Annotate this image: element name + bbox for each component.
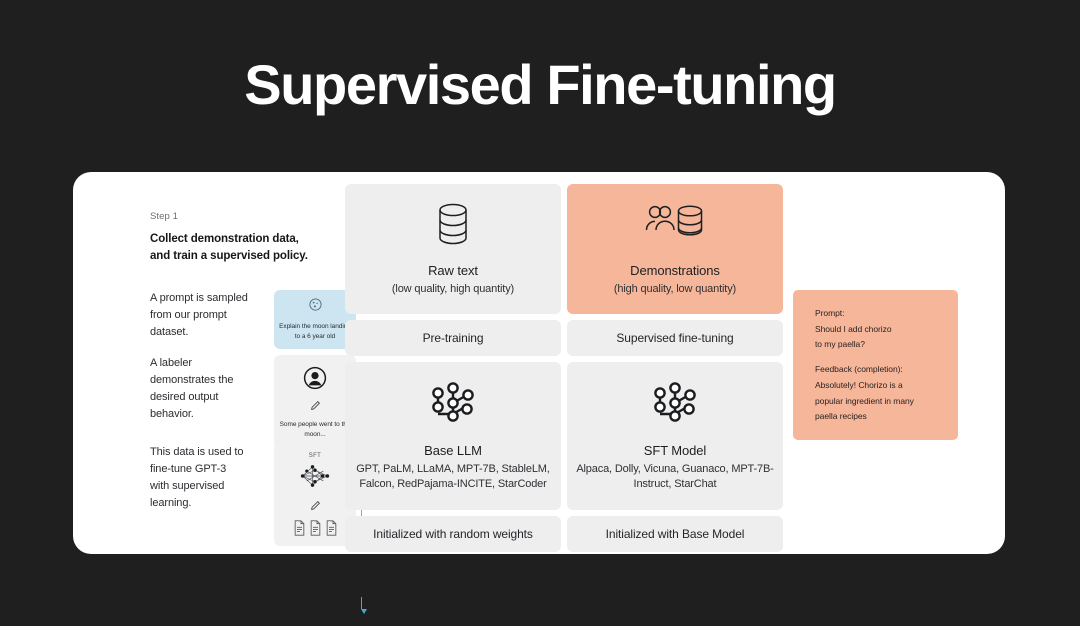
flow-step-2-text: A labeler demonstrates the desired outpu… [150, 355, 248, 423]
panel-sft-model[interactable]: SFT Model Alpaca, Dolly, Vicuna, Guanaco… [567, 362, 783, 510]
init-random-weights[interactable]: Initialized with random weights [345, 516, 561, 552]
prompt-sample-text: Explain the moon landing to a 6 year old [279, 322, 351, 342]
step-heading: Collect demonstration data, and train a … [150, 231, 340, 264]
documents-icon [279, 520, 351, 536]
prompt-feedback-note: Prompt: Should I add chorizo to my paell… [793, 290, 958, 440]
note-prompt-line-1: Should I add chorizo [815, 322, 942, 338]
sft-tag-label: SFT [279, 453, 351, 459]
panel-raw-text[interactable]: Raw text (low quality, high quantity) [345, 184, 561, 314]
flow-step-3: This data is used to fine-tune GPT-3 wit… [150, 444, 370, 546]
globe-icon [279, 297, 351, 317]
panel-base-llm-title: Base LLM [424, 443, 482, 458]
step-heading-line-1: Collect demonstration data, [150, 231, 340, 248]
slide-canvas: Supervised Fine-tuning Step 1 Collect de… [0, 0, 1080, 626]
left-explainer-column: Step 1 Collect demonstration data, and t… [150, 211, 340, 264]
panel-sft-model-title: SFT Model [644, 443, 706, 458]
labeler-demo-text: Some people went to the moon... [279, 420, 351, 440]
labeler-demo-box: Some people went to the moon... [274, 355, 356, 450]
stage-supervised-fine-tuning[interactable]: Supervised fine-tuning [567, 320, 783, 356]
people-database-icon [644, 202, 706, 251]
init-base-model-label: Initialized with Base Model [606, 527, 745, 541]
arrow-step2-to-step3 [361, 597, 362, 614]
stage-pre-training-label: Pre-training [423, 331, 484, 345]
page-title: Supervised Fine-tuning [0, 52, 1080, 117]
note-prompt-line-2: to my paella? [815, 337, 942, 353]
node-graph-icon [427, 380, 479, 431]
database-icon [433, 202, 473, 251]
panel-base-llm[interactable]: Base LLM GPT, PaLM, LLaMA, MPT-7B, Stabl… [345, 362, 561, 510]
panel-base-llm-models: GPT, PaLM, LLaMA, MPT-7B, StableLM, Falc… [345, 462, 561, 492]
flow-step-2: A labeler demonstrates the desired outpu… [150, 355, 370, 450]
pencil-icon [279, 398, 351, 416]
panel-raw-text-subtitle: (low quality, high quantity) [384, 282, 522, 297]
panel-sft-model-models: Alpaca, Dolly, Vicuna, Guanaco, MPT-7B-I… [567, 462, 783, 492]
flow-step-3-text: This data is used to fine-tune GPT-3 wit… [150, 444, 248, 512]
labeler-avatar-icon [279, 366, 351, 395]
panel-raw-text-title: Raw text [428, 263, 478, 278]
pencil-icon [279, 498, 351, 516]
step-label: Step 1 [150, 211, 340, 222]
neural-network-icon [279, 461, 351, 496]
prompt-sample-box: Explain the moon landing to a 6 year old [274, 290, 356, 349]
init-base-model[interactable]: Initialized with Base Model [567, 516, 783, 552]
init-random-weights-label: Initialized with random weights [373, 527, 533, 541]
sft-training-box: SFT [274, 444, 356, 546]
panel-demonstrations-subtitle: (high quality, low quantity) [606, 282, 744, 297]
panel-demonstrations[interactable]: Demonstrations (high quality, low quanti… [567, 184, 783, 314]
flow-step-1-text: A prompt is sampled from our prompt data… [150, 290, 248, 341]
note-spacer [815, 353, 942, 362]
node-graph-icon [649, 380, 701, 431]
step-heading-line-2: and train a supervised policy. [150, 248, 340, 265]
note-feedback-line-1: Absolutely! Chorizo is a [815, 378, 942, 394]
stage-pre-training[interactable]: Pre-training [345, 320, 561, 356]
note-feedback-line-2: popular ingredient in many [815, 394, 942, 410]
note-feedback-line-3: paella recipes [815, 409, 942, 425]
note-prompt-label: Prompt: [815, 306, 942, 322]
panel-demonstrations-title: Demonstrations [630, 263, 720, 278]
note-feedback-label: Feedback (completion): [815, 362, 942, 378]
stage-supervised-fine-tuning-label: Supervised fine-tuning [616, 331, 733, 345]
flow-step-1: A prompt is sampled from our prompt data… [150, 290, 370, 349]
